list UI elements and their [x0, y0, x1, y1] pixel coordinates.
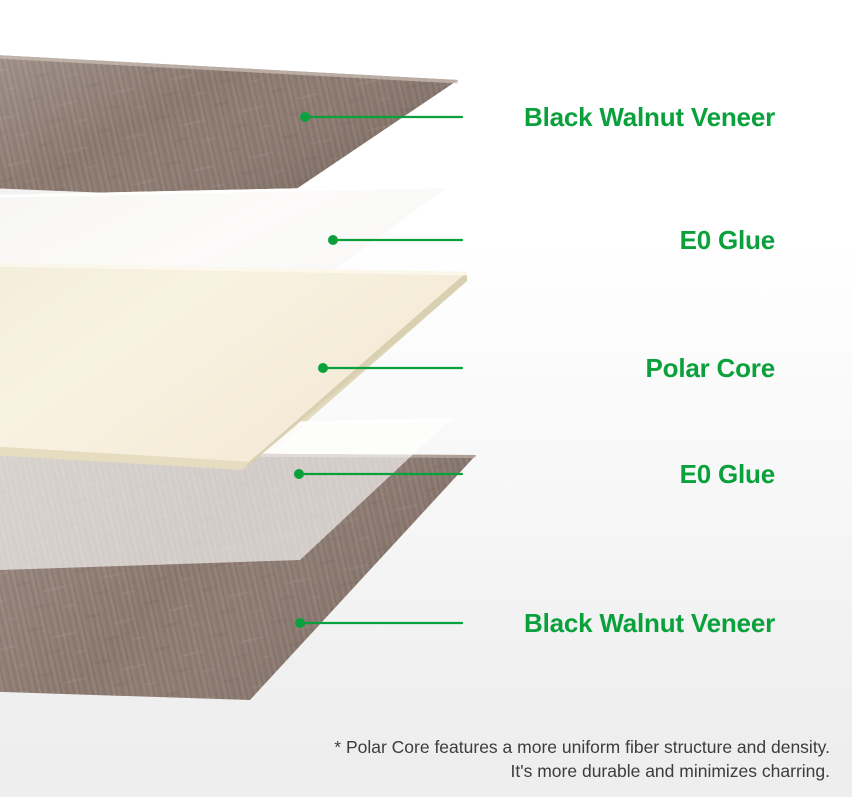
footnote: * Polar Core features a more uniform fib… — [0, 735, 830, 783]
leader-dot-top-veneer — [300, 112, 310, 122]
layer-diagram-canvas: Black Walnut Veneer E0 Glue Polar Core E… — [0, 0, 852, 797]
leader-dot-core — [318, 363, 328, 373]
callout-label-bottom-glue: E0 Glue — [680, 461, 775, 487]
leader-dot-bottom-glue — [294, 469, 304, 479]
footnote-line-2: It's more durable and minimizes charring… — [0, 759, 830, 783]
footnote-line-1: * Polar Core features a more uniform fib… — [0, 735, 830, 759]
leader-dot-top-glue — [328, 235, 338, 245]
callout-label-top-glue: E0 Glue — [680, 227, 775, 253]
callout-label-bottom-veneer: Black Walnut Veneer — [524, 610, 775, 636]
callout-label-polar-core: Polar Core — [646, 355, 776, 381]
leader-dot-bottom-veneer — [295, 618, 305, 628]
callout-label-top-veneer: Black Walnut Veneer — [524, 104, 775, 130]
